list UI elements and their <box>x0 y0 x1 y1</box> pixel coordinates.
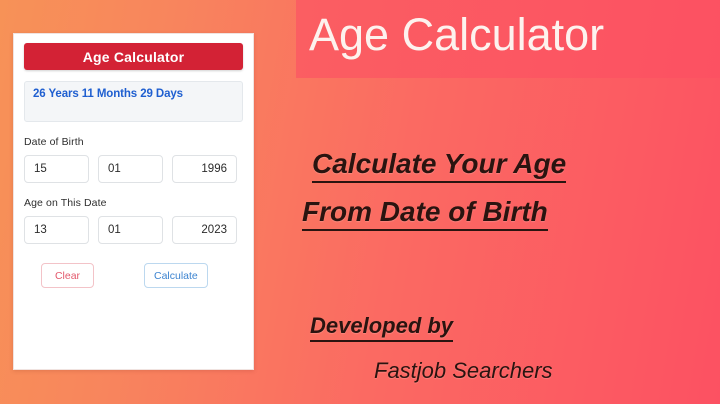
target-year-input[interactable]: 2023 <box>172 216 237 244</box>
promo-title: Age Calculator <box>309 9 604 61</box>
date-of-birth-label: Date of Birth <box>24 136 243 148</box>
promo-panel: Age Calculator Calculate Your Age From D… <box>296 0 720 404</box>
card-title-text: Age Calculator <box>83 49 185 65</box>
result-panel: 26 Years 11 Months 29 Days <box>24 81 243 122</box>
clear-button[interactable]: Clear <box>41 263 94 288</box>
dob-day-input[interactable]: 15 <box>24 155 89 183</box>
calculate-button[interactable]: Calculate <box>144 263 208 288</box>
dob-month-input[interactable]: 01 <box>98 155 163 183</box>
promo-credit-name: Fastjob Searchers <box>374 358 553 384</box>
age-result-text: 26 Years 11 Months 29 Days <box>33 88 234 100</box>
card-title-bar: Age Calculator <box>24 43 243 70</box>
target-month-input[interactable]: 01 <box>98 216 163 244</box>
promo-tagline-line-1: Calculate Your Age <box>312 148 566 183</box>
promo-credit-label: Developed by <box>310 313 453 342</box>
age-calculator-card: Age Calculator 26 Years 11 Months 29 Day… <box>13 33 254 370</box>
promo-tagline-line-2: From Date of Birth <box>302 196 548 231</box>
age-on-this-date-row: 13 01 2023 <box>24 216 243 244</box>
date-of-birth-row: 15 01 1996 <box>24 155 243 183</box>
dob-year-input[interactable]: 1996 <box>172 155 237 183</box>
age-on-this-date-label: Age on This Date <box>24 197 243 209</box>
action-button-row: Clear Calculate <box>24 263 243 288</box>
target-day-input[interactable]: 13 <box>24 216 89 244</box>
screenshot-root: Age Calculator 26 Years 11 Months 29 Day… <box>0 0 720 404</box>
